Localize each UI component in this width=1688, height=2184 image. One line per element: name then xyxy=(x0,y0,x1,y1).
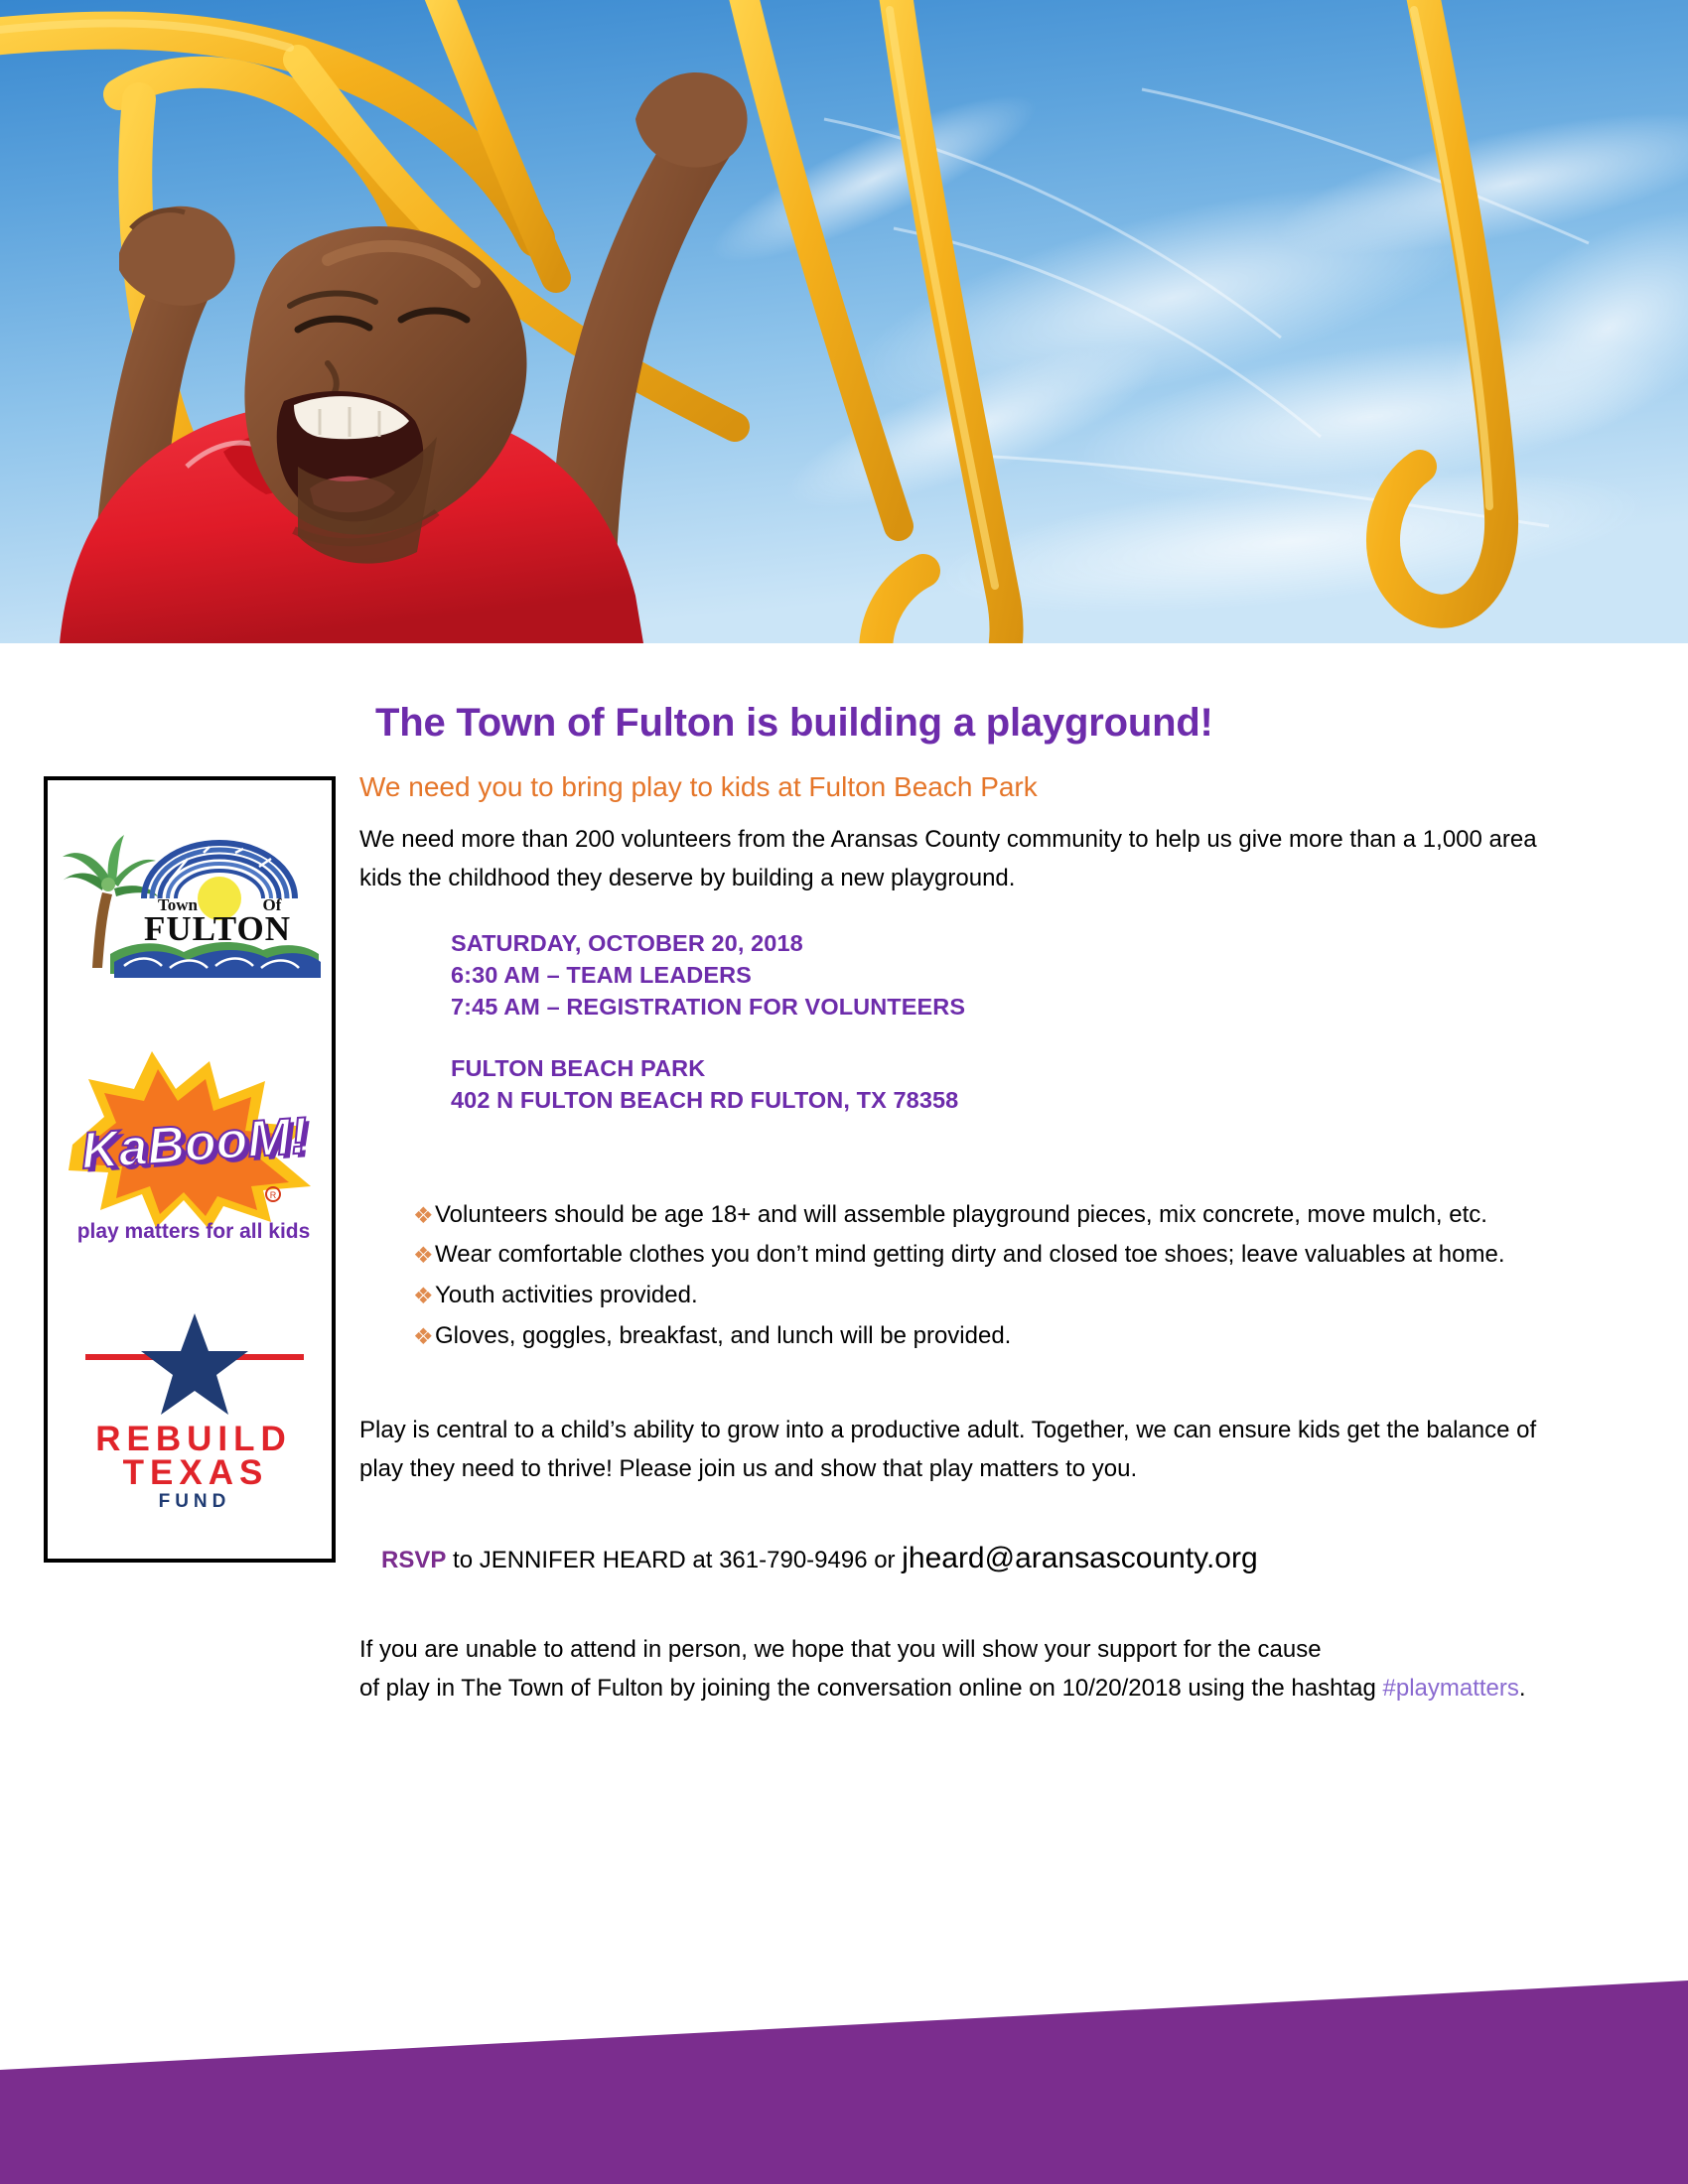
diamond-bullet-icon: ❖ xyxy=(413,1197,434,1234)
hero-photo xyxy=(0,0,1688,643)
registered-mark-glyph: R xyxy=(270,1190,277,1200)
event-venue: FULTON BEACH PARK xyxy=(451,1053,1566,1085)
list-item-text: Volunteers should be age 18+ and will as… xyxy=(435,1201,1487,1228)
star-icon xyxy=(141,1313,248,1415)
kaboom-tagline: play matters for all kids xyxy=(77,1220,311,1243)
page-title: The Town of Fulton is building a playgro… xyxy=(359,701,1566,746)
subheadline: We need you to bring play to kids at Ful… xyxy=(359,771,1566,803)
event-spacer xyxy=(451,1024,1566,1053)
volunteer-info-list: ❖ Volunteers should be age 18+ and will … xyxy=(359,1196,1566,1357)
rsvp-line: RSVP to JENNIFER HEARD at 361-790-9496 o… xyxy=(359,1537,1566,1580)
final-period: . xyxy=(1519,1675,1526,1702)
diamond-bullet-icon: ❖ xyxy=(413,1318,434,1355)
town-of-fulton-logo: Town Of FULTON Texas xyxy=(59,819,329,988)
event-time-team-leaders: 6:30 AM – TEAM LEADERS xyxy=(451,960,1566,992)
event-address: 402 N FULTON BEACH RD FULTON, TX 78358 xyxy=(451,1085,1566,1117)
intro-paragraph: We need more than 200 volunteers from th… xyxy=(359,821,1566,898)
logo-slot-rebuild: REBUILD TEXAS FUND xyxy=(48,1297,340,1510)
rsvp-email-link[interactable]: jheard@aransascounty.org xyxy=(902,1542,1257,1574)
final-line-2: of play in The Town of Fulton by joining… xyxy=(359,1675,1383,1702)
waves-graphic xyxy=(110,942,321,978)
event-date: SATURDAY, OCTOBER 20, 2018 xyxy=(451,928,1566,960)
logo-slot-kaboom: KaBooM! KaBooM! R play matters for all k… xyxy=(48,1040,340,1249)
event-time-registration: 7:45 AM – REGISTRATION FOR VOLUNTEERS xyxy=(451,992,1566,1024)
sponsor-logo-box: Town Of FULTON Texas xyxy=(44,776,336,1563)
list-item-text: Youth activities provided. xyxy=(435,1282,698,1308)
fund-word: FUND xyxy=(159,1491,231,1508)
list-item-text: Gloves, goggles, breakfast, and lunch wi… xyxy=(435,1322,1011,1349)
list-item: ❖ Wear comfortable clothes you don’t min… xyxy=(359,1236,1566,1275)
list-item: ❖ Volunteers should be age 18+ and will … xyxy=(359,1196,1566,1235)
flyer-content: The Town of Fulton is building a playgro… xyxy=(359,701,1566,1732)
final-paragraph: If you are unable to attend in person, w… xyxy=(359,1631,1566,1708)
rebuild-texas-logo-art: REBUILD TEXAS FUND xyxy=(70,1299,318,1508)
texas-word: TEXAS xyxy=(123,1453,269,1492)
closing-paragraph: Play is central to a child’s ability to … xyxy=(359,1412,1566,1489)
list-item: ❖ Youth activities provided. xyxy=(359,1277,1566,1315)
list-item-text: Wear comfortable clothes you don’t mind … xyxy=(435,1241,1505,1268)
footer-purple-wedge xyxy=(0,1980,1688,2184)
town-of-fulton-logo-art: Town Of FULTON Texas xyxy=(59,819,329,988)
rsvp-keyword: RSVP xyxy=(381,1547,446,1573)
event-details: SATURDAY, OCTOBER 20, 2018 6:30 AM – TEA… xyxy=(359,928,1566,1117)
rebuild-texas-fund-logo: REBUILD TEXAS FUND xyxy=(70,1299,318,1508)
footer-wedge-shape xyxy=(0,1980,1688,2184)
diamond-bullet-icon: ❖ xyxy=(413,1237,434,1274)
hashtag-link[interactable]: #playmatters xyxy=(1383,1675,1519,1702)
diamond-bullet-icon: ❖ xyxy=(413,1278,434,1314)
hero-illustration xyxy=(0,0,1688,643)
kaboom-logo: KaBooM! KaBooM! R play matters for all k… xyxy=(61,1045,327,1244)
final-line-1: If you are unable to attend in person, w… xyxy=(359,1636,1322,1663)
list-item: ❖ Gloves, goggles, breakfast, and lunch … xyxy=(359,1317,1566,1356)
rsvp-middle-text: to JENNIFER HEARD at 361-790-9496 or xyxy=(446,1547,902,1573)
fulton-name-word: FULTON xyxy=(144,909,291,948)
logo-slot-fulton: Town Of FULTON Texas xyxy=(48,804,340,1003)
kaboom-logo-art: KaBooM! KaBooM! R play matters for all k… xyxy=(61,1045,327,1244)
